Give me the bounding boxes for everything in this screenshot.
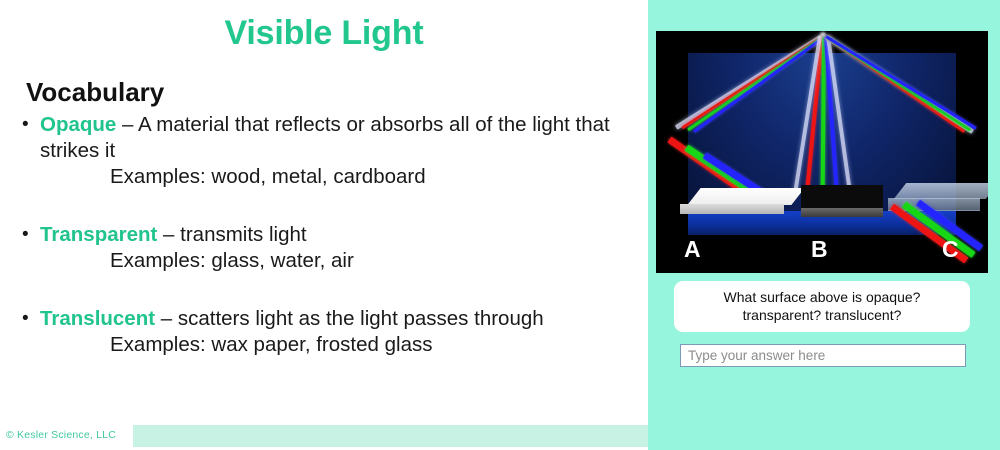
bullet-icon: • (22, 112, 29, 138)
surface-a-edge (680, 204, 784, 214)
surface-b-slab (801, 185, 883, 209)
surface-a-slab (687, 188, 804, 205)
slide-canvas: Visible Light Vocabulary • Opaque – A ma… (0, 0, 1000, 450)
figure-label-c: C (942, 236, 959, 263)
vocabulary-dash: – (155, 307, 178, 330)
page-title: Visible Light (0, 14, 648, 53)
answer-input[interactable] (680, 344, 966, 367)
footer-band (133, 425, 648, 447)
vocabulary-entry: Transparent – transmits light (22, 222, 632, 248)
section-heading: Vocabulary (26, 77, 164, 108)
content-panel: Visible Light Vocabulary • Opaque – A ma… (0, 0, 648, 450)
light-surfaces-figure: A B C (656, 31, 988, 273)
vocabulary-examples: Examples: wax paper, frosted glass (22, 332, 632, 358)
vocabulary-definition: scatters light as the light passes throu… (178, 307, 544, 330)
list-item: • Opaque – A material that reflects or a… (22, 112, 632, 190)
figure-label-b: B (811, 236, 828, 263)
vocabulary-term: Translucent (40, 307, 155, 330)
surface-c-slab (894, 183, 988, 199)
figure-label-a: A (684, 236, 701, 263)
vocabulary-list: • Opaque – A material that reflects or a… (22, 112, 632, 360)
light-source-point (820, 32, 826, 37)
spacer (22, 276, 632, 306)
spacer (22, 192, 632, 222)
vocabulary-examples: Examples: wood, metal, cardboard (22, 164, 632, 190)
bullet-icon: • (22, 222, 29, 248)
question-prompt: What surface above is opaque? transparen… (674, 281, 970, 332)
vocabulary-term: Opaque (40, 113, 116, 136)
question-line-2: transparent? translucent? (684, 306, 960, 324)
surface-b-edge (801, 208, 883, 217)
vocabulary-examples: Examples: glass, water, air (22, 248, 632, 274)
vocabulary-entry: Opaque – A material that reflects or abs… (22, 112, 632, 164)
vocabulary-entry: Translucent – scatters light as the ligh… (22, 306, 632, 332)
vocabulary-dash: – (116, 113, 138, 136)
vocabulary-definition: transmits light (180, 223, 306, 246)
vocabulary-term: Transparent (40, 223, 157, 246)
copyright-notice: © Kesler Science, LLC (6, 429, 116, 441)
question-line-1: What surface above is opaque? (684, 288, 960, 306)
bullet-icon: • (22, 306, 29, 332)
list-item: • Translucent – scatters light as the li… (22, 306, 632, 358)
list-item: • Transparent – transmits light Examples… (22, 222, 632, 274)
vocabulary-dash: – (157, 223, 180, 246)
